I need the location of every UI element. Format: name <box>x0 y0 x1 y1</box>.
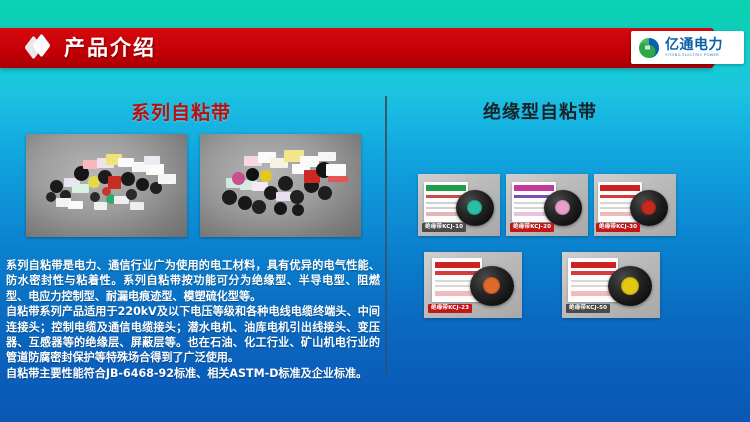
tape-roll <box>608 266 652 306</box>
logo-name-en: YITONG ELECTRIC POWER <box>665 54 723 58</box>
product-card-kcj-50[interactable]: 绝缘带KCJ-50 <box>562 252 660 318</box>
logo-name-cn: 亿通电力 <box>665 38 723 52</box>
tape-roll <box>470 266 514 306</box>
description-paragraph-1: 系列自粘带是电力、通信行业广为使用的电工材料，具有优异的电气性能、防水密封性与粘… <box>6 258 380 304</box>
product-label: 绝缘带KCJ-50 <box>566 304 610 313</box>
tape-roll <box>630 190 668 226</box>
section-title-right: 绝缘型自粘带 <box>483 98 597 124</box>
description-paragraph-3: 自粘带主要性能符合JB-6468-92标准、相关ASTM-D标准及企业标准。 <box>6 366 380 381</box>
company-logo: 亿通电力 YITONG ELECTRIC POWER <box>631 31 744 64</box>
product-card-kcj-20[interactable]: 绝缘带KCJ-20 <box>506 174 588 236</box>
product-label: 绝缘带KCJ-10 <box>422 223 466 232</box>
product-card-kcj-10[interactable]: 绝缘带KCJ-10 <box>418 174 500 236</box>
self-adhesive-tape-assortment-photo-1 <box>26 134 187 237</box>
diamond-bullet-icon <box>26 37 52 59</box>
product-card-kcj-30[interactable]: 绝缘带KCJ-30 <box>594 174 676 236</box>
description-paragraph-2: 自粘带系列产品适用于220kV及以下电压等级和各种电线电缆终端头、中间连接头；控… <box>6 304 380 366</box>
tape-roll <box>456 190 494 226</box>
product-card-kcj-23[interactable]: 绝缘带KCJ-23 <box>424 252 522 318</box>
section-title-left: 系列自粘带 <box>131 98 231 125</box>
self-adhesive-tape-assortment-photo-2 <box>200 134 361 237</box>
product-description: 系列自粘带是电力、通信行业广为使用的电工材料，具有优异的电气性能、防水密封性与粘… <box>6 258 380 381</box>
yitong-swirl-logo-icon <box>638 37 660 59</box>
tape-roll <box>544 190 582 226</box>
header-band: 产品介绍 <box>0 28 712 68</box>
product-label: 绝缘带KCJ-23 <box>428 304 472 313</box>
product-label: 绝缘带KCJ-20 <box>510 223 554 232</box>
page-title: 产品介绍 <box>64 38 156 59</box>
column-divider <box>385 96 387 377</box>
product-label: 绝缘带KCJ-30 <box>596 223 640 232</box>
